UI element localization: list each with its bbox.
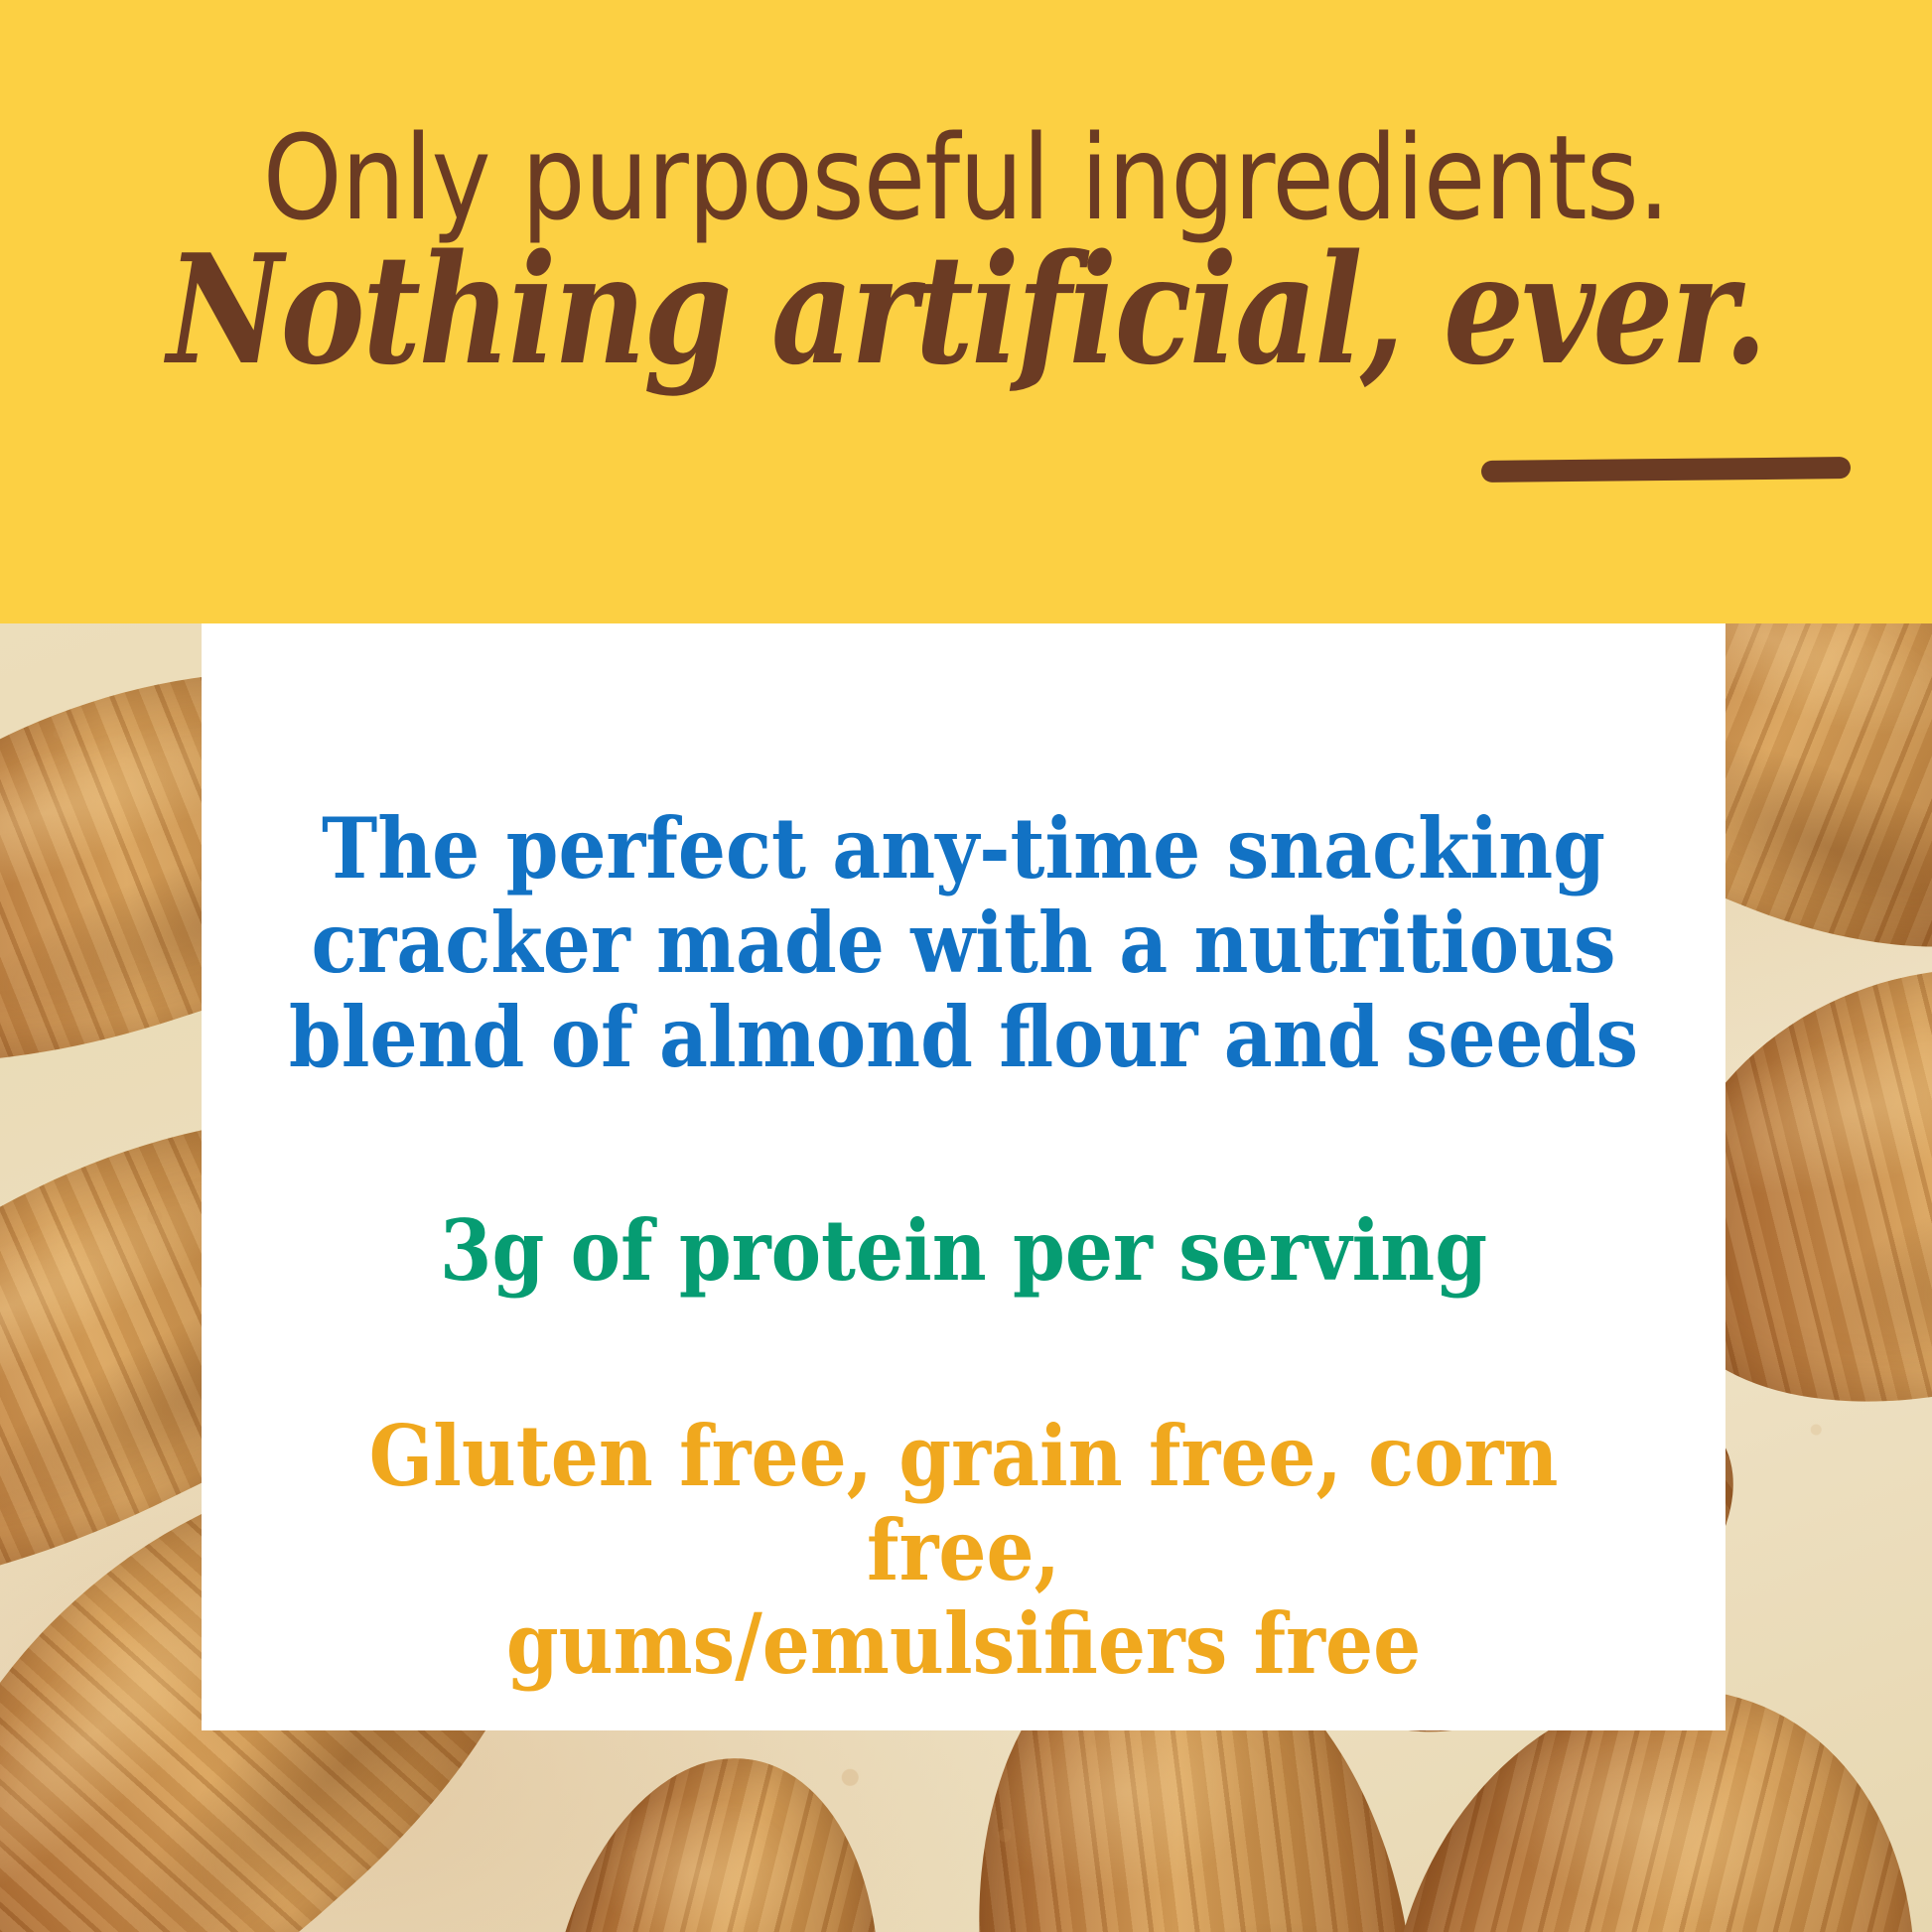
yellow-header-banner: Only purposeful ingredients. Nothing art… [0, 0, 1932, 623]
headline-secondary-wrap: Nothing artificial, ever. [0, 234, 1932, 385]
free-from-claim-text: Gluten free, grain free, corn free, gums… [278, 1410, 1650, 1693]
claims-card: The perfect any-time snacking cracker ma… [202, 623, 1725, 1730]
product-infographic: Only purposeful ingredients. Nothing art… [0, 0, 1932, 1932]
headline-primary: Only purposeful ingredients. [135, 119, 1797, 236]
ever-underline-stroke [1481, 457, 1851, 483]
headline-secondary: Nothing artificial, ever. [167, 234, 1765, 385]
claims-card-content: The perfect any-time snacking cracker ma… [202, 802, 1725, 1692]
protein-claim-text: 3g of protein per serving [278, 1204, 1650, 1299]
product-description-text: The perfect any-time snacking cracker ma… [278, 802, 1650, 1085]
